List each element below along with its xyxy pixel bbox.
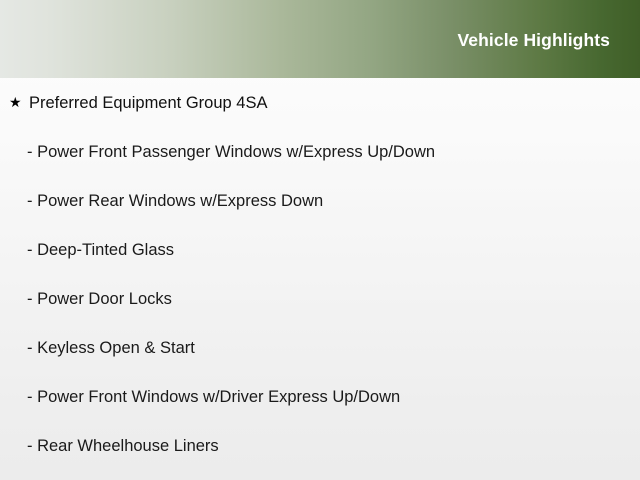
highlight-item-label: - Rear Wheelhouse Liners bbox=[27, 436, 219, 456]
highlight-item-label: - Keyless Open & Start bbox=[27, 338, 195, 358]
page-title: Vehicle Highlights bbox=[457, 30, 610, 50]
highlight-item-label: - Power Rear Windows w/Express Down bbox=[27, 191, 323, 211]
highlight-item: - Rear Wheelhouse Liners bbox=[0, 421, 640, 470]
highlight-item-label: - Power Door Locks bbox=[27, 289, 172, 309]
highlight-item: - Power Door Locks bbox=[0, 274, 640, 323]
highlight-item-label: Preferred Equipment Group 4SA bbox=[29, 93, 267, 113]
highlight-item: ★Preferred Equipment Group 4SA bbox=[0, 78, 640, 127]
highlight-item: - Deep-Tinted Glass bbox=[0, 225, 640, 274]
header-band: Vehicle Highlights bbox=[0, 0, 640, 78]
highlight-item-label: - Power Front Passenger Windows w/Expres… bbox=[27, 142, 435, 162]
highlight-item: - Keyless Open & Start bbox=[0, 323, 640, 372]
highlights-list: ★Preferred Equipment Group 4SA- Power Fr… bbox=[0, 78, 640, 470]
star-bullet-icon: ★ bbox=[9, 95, 29, 109]
highlight-item-label: - Power Front Windows w/Driver Express U… bbox=[27, 387, 400, 407]
highlight-item: - Power Front Passenger Windows w/Expres… bbox=[0, 127, 640, 176]
highlight-item: - Power Front Windows w/Driver Express U… bbox=[0, 372, 640, 421]
vehicle-highlights-page: Vehicle Highlights ★Preferred Equipment … bbox=[0, 0, 640, 480]
highlight-item-label: - Deep-Tinted Glass bbox=[27, 240, 174, 260]
highlight-item: - Power Rear Windows w/Express Down bbox=[0, 176, 640, 225]
